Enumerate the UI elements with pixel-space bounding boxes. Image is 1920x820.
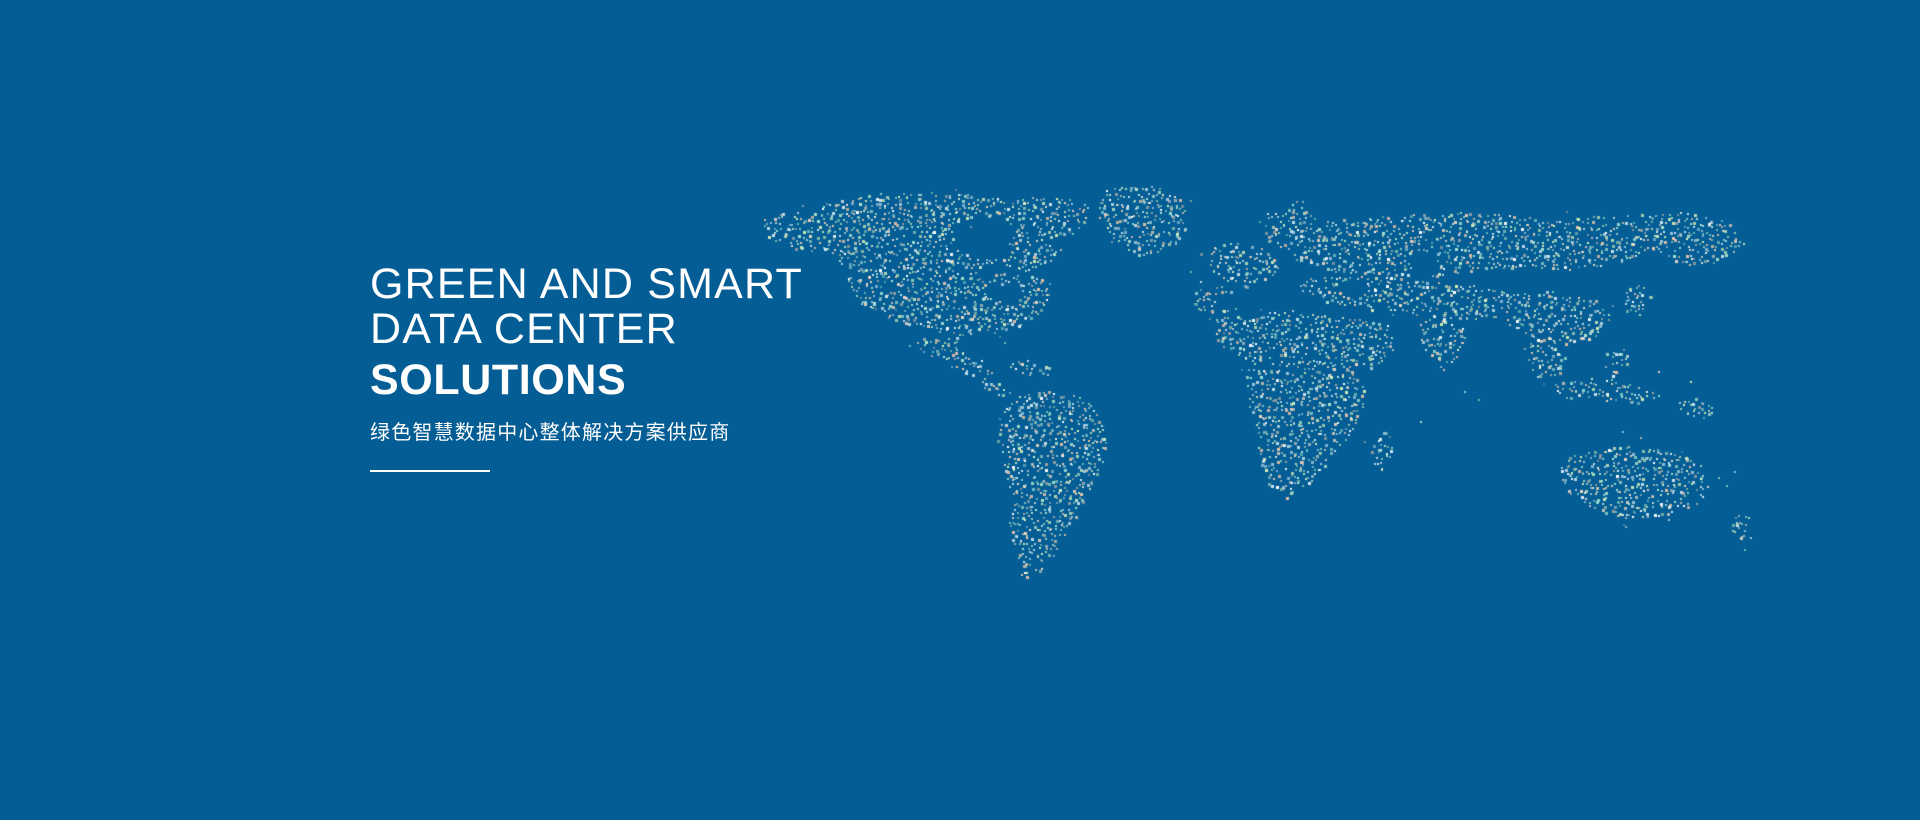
headline-line-1: GREEN AND SMART bbox=[370, 262, 930, 307]
hero-banner: GREEN AND SMART DATA CENTER SOLUTIONS 绿色… bbox=[0, 0, 1920, 820]
hero-text-block: GREEN AND SMART DATA CENTER SOLUTIONS 绿色… bbox=[370, 262, 930, 472]
headline-line-2: DATA CENTER bbox=[370, 307, 930, 352]
accent-rule-divider bbox=[370, 470, 490, 472]
hero-subtitle-chinese: 绿色智慧数据中心整体解决方案供应商 bbox=[370, 420, 930, 446]
headline-line-3: SOLUTIONS bbox=[370, 352, 930, 406]
